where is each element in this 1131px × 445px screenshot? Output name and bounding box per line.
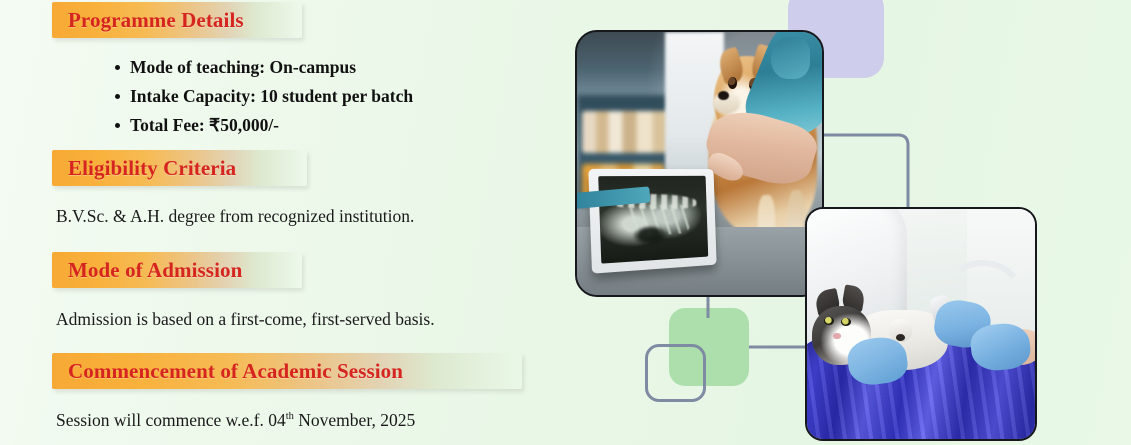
section-body-mode-of-admission: Admission is based on a first-come, firs… — [56, 309, 435, 330]
image-collage — [560, 0, 1131, 445]
section-heading-eligibility-criteria: Eligibility Criteria — [52, 150, 307, 186]
section-body-eligibility-criteria: B.V.Sc. & A.H. degree from recognized in… — [56, 206, 414, 227]
session-date-suffix: November, 2025 — [294, 410, 415, 430]
list-item: Mode of teaching: On-campus — [130, 55, 550, 80]
section-heading-label: Commencement of Academic Session — [68, 359, 403, 384]
tablet-device — [588, 169, 717, 274]
session-date-ordinal-suffix: th — [286, 411, 294, 422]
section-heading-mode-of-admission: Mode of Admission — [52, 252, 302, 288]
section-heading-commencement-of-academic-session: Commencement of Academic Session — [52, 353, 522, 389]
photo-cat-ultrasound — [805, 207, 1037, 441]
section-heading-label: Programme Details — [68, 8, 244, 33]
section-heading-label: Eligibility Criteria — [68, 156, 236, 181]
section-body-commencement-of-academic-session: Session will commence w.e.f. 04th Novemb… — [56, 410, 415, 431]
photo-dog-xray-scene — [577, 32, 822, 295]
photo-dog-xray — [575, 30, 824, 297]
session-date-prefix: Session will commence w.e.f. 04 — [56, 410, 286, 430]
vet-gloved-hand — [771, 37, 810, 79]
section-heading-label: Mode of Admission — [68, 258, 242, 283]
section-heading-programme-details: Programme Details — [52, 2, 302, 38]
decorative-outlined-rounded-square — [645, 344, 706, 402]
photo-cat-ultrasound-scene — [807, 209, 1035, 439]
programme-details-bullet-list: Mode of teaching: On-campus Intake Capac… — [108, 55, 550, 142]
poster-canvas: Programme Details Mode of teaching: On-c… — [0, 0, 1131, 445]
cat-eye-left — [824, 317, 834, 325]
list-item: Total Fee: ₹50,000/- — [130, 113, 550, 138]
content-column: Programme Details Mode of teaching: On-c… — [0, 0, 560, 445]
list-item: Intake Capacity: 10 student per batch — [130, 84, 550, 109]
shelf-products-top — [582, 111, 670, 153]
